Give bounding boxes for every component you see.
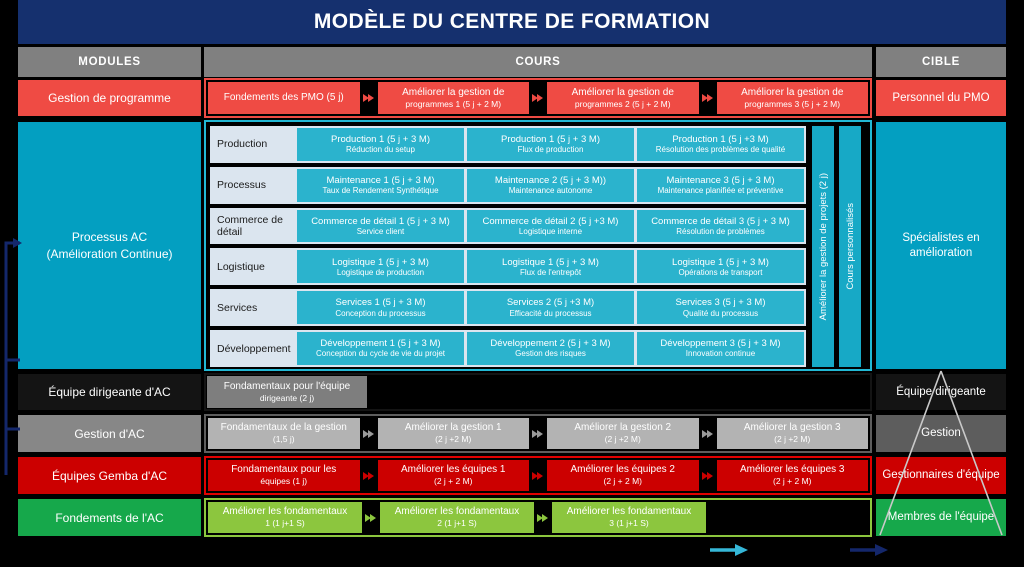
matrix-cell[interactable]: Commerce de détail 3 (5 j + 3 M) Résolut… <box>637 210 804 243</box>
arrow-right-icon <box>529 82 547 114</box>
matrix-row-label: Logistique <box>212 250 294 283</box>
matrix-cell[interactable]: Développement 3 (5 j + 3 M) Innovation c… <box>637 332 804 365</box>
arrow-right-icon <box>360 460 378 491</box>
matrix-cell[interactable]: Commerce de détail 1 (5 j + 3 M) Service… <box>297 210 464 243</box>
course-box[interactable]: Améliorer les fondamentaux 2 (1 j+1 S) <box>380 502 534 533</box>
course-box[interactable]: Fondamentaux de la gestion (1,5 j) <box>208 418 360 449</box>
course-box[interactable]: Améliorer la gestion de programmes 1 (5 … <box>378 82 530 114</box>
matrix-row-processus: Processus Maintenance 1 (5 j + 3 M) Taux… <box>210 167 806 204</box>
course-matrix-grid: Production Production 1 (5 j + 3 M) Rédu… <box>210 126 806 367</box>
training-center-model-diagram: MODÈLE DU CENTRE DE FORMATION MODULES CO… <box>0 0 1024 567</box>
course-box[interactable]: Améliorer les équipes 3 (2 j + 2 M) <box>717 460 869 491</box>
target-label-gestion: Gestion <box>876 415 1006 452</box>
matrix-row-label: Services <box>212 291 294 324</box>
course-box[interactable]: Améliorer les fondamentaux 3 (1 j+1 S) <box>552 502 706 533</box>
target-label-personnel-du-pmo: Personnel du PMO <box>876 80 1006 116</box>
matrix-row-logistique: Logistique Logistique 1 (5 j + 3 M) Logi… <box>210 248 806 285</box>
bottom-flow-arrows-icon <box>690 538 1024 562</box>
processus-ac-line2: (Amélioration Continue) <box>46 246 172 262</box>
vertical-course-gestion-de-projets[interactable]: Améliorer la gestion de projets (2 j) <box>812 126 834 367</box>
target-label-membres-equipe: Membres de l'équipe <box>876 499 1006 536</box>
matrix-row-label: Développement <box>212 332 294 365</box>
arrow-right-icon <box>534 502 552 533</box>
column-header-modules: MODULES <box>18 47 201 77</box>
course-box[interactable]: Améliorer la gestion 3 (2 j +2 M) <box>717 418 869 449</box>
matrix-cell[interactable]: Logistique 1 (5 j + 3 M) Flux de l'entre… <box>467 250 634 283</box>
module-label-equipe-dirigeante-ac: Équipe dirigeante d'AC <box>18 374 201 410</box>
matrix-cell[interactable]: Logistique 1 (5 j + 3 M) Logistique de p… <box>297 250 464 283</box>
matrix-row-production: Production Production 1 (5 j + 3 M) Rédu… <box>210 126 806 163</box>
module-label-equipes-gemba-ac: Équipes Gemba d'AC <box>18 457 201 494</box>
matrix-cell[interactable]: Production 1 (5 j + 3 M) Réduction du se… <box>297 128 464 161</box>
matrix-cell[interactable]: Commerce de détail 2 (5 j +3 M) Logistiq… <box>467 210 634 243</box>
module-label-gestion-de-programme: Gestion de programme <box>18 80 201 116</box>
matrix-cell[interactable]: Maintenance 3 (5 j + 3 M) Maintenance pl… <box>637 169 804 202</box>
course-track-fondements: Améliorer les fondamentaux 1 (1 j+1 S) A… <box>204 498 872 537</box>
matrix-cell[interactable]: Développement 2 (5 j + 3 M) Gestion des … <box>467 332 634 365</box>
course-box[interactable]: Améliorer la gestion de programmes 2 (5 … <box>547 82 699 114</box>
arrow-right-icon <box>362 502 380 533</box>
course-box[interactable]: Améliorer les équipes 1 (2 j + 2 M) <box>378 460 530 491</box>
arrow-right-icon <box>529 418 547 449</box>
module-label-fondements-ac: Fondements de l'AC <box>18 499 201 536</box>
course-box[interactable]: Améliorer la gestion de programmes 3 (5 … <box>717 82 869 114</box>
matrix-cell[interactable]: Services 1 (5 j + 3 M) Conception du pro… <box>297 291 464 324</box>
column-header-cours: COURS <box>204 47 872 77</box>
course-track-programme: Fondements des PMO (5 j) Améliorer la ge… <box>204 78 872 118</box>
matrix-cell[interactable]: Production 1 (5 j + 3 M) Flux de product… <box>467 128 634 161</box>
matrix-cell[interactable]: Production 1 (5 j +3 M) Résolution des p… <box>637 128 804 161</box>
course-box[interactable]: Améliorer la gestion 1 (2 j +2 M) <box>378 418 530 449</box>
course-track-gestion: Fondamentaux de la gestion (1,5 j) Améli… <box>204 414 872 453</box>
arrow-right-icon <box>699 460 717 491</box>
course-box[interactable]: Améliorer la gestion 2 (2 j +2 M) <box>547 418 699 449</box>
page-title: MODÈLE DU CENTRE DE FORMATION <box>18 0 1006 44</box>
arrow-right-icon <box>699 82 717 114</box>
target-label-gestionnaires-equipe: Gestionnaires d'équipe <box>876 457 1006 494</box>
module-label-processus-ac: Processus AC (Amélioration Continue) <box>18 122 201 369</box>
arrow-right-icon <box>529 460 547 491</box>
matrix-row-services: Services Services 1 (5 j + 3 M) Concepti… <box>210 289 806 326</box>
matrix-row-label: Production <box>212 128 294 161</box>
matrix-row-label: Processus <box>212 169 294 202</box>
course-track-dirigeante: Fondamentaux pour l'équipe dirigeante (2… <box>204 373 872 411</box>
processus-ac-line1: Processus AC <box>46 229 172 245</box>
column-header-cible: CIBLE <box>876 47 1006 77</box>
track-spacer <box>367 376 869 408</box>
target-label-specialistes-en-amelioration: Spécialistes en amélioration <box>876 122 1006 369</box>
course-box[interactable]: Améliorer les fondamentaux 1 (1 j+1 S) <box>208 502 362 533</box>
course-track-gemba: Fondamentaux pour les équipes (1 j) Amél… <box>204 456 872 495</box>
matrix-row-developpement: Développement Développement 1 (5 j + 3 M… <box>210 330 806 367</box>
course-box[interactable]: Fondamentaux pour l'équipe dirigeante (2… <box>207 376 367 408</box>
matrix-cell[interactable]: Logistique 1 (5 j + 3 M) Opérations de t… <box>637 250 804 283</box>
matrix-row-label: Commerce de détail <box>212 210 294 243</box>
matrix-cell[interactable]: Maintenance 2 (5 j + 3 M)) Maintenance a… <box>467 169 634 202</box>
matrix-cell[interactable]: Services 3 (5 j + 3 M) Qualité du proces… <box>637 291 804 324</box>
course-box[interactable]: Améliorer les équipes 2 (2 j + 2 M) <box>547 460 699 491</box>
module-label-gestion-ac: Gestion d'AC <box>18 415 201 452</box>
course-box[interactable]: Fondamentaux pour les équipes (1 j) <box>208 460 360 491</box>
target-label-equipe-dirigeante: Équipe dirigeante <box>876 374 1006 410</box>
arrow-right-icon <box>360 418 378 449</box>
vertical-course-cours-personnalises[interactable]: Cours personnalisés <box>839 126 861 367</box>
arrow-right-icon <box>699 418 717 449</box>
track-spacer <box>706 502 868 533</box>
course-matrix-processus-ac: Production Production 1 (5 j + 3 M) Rédu… <box>204 120 872 371</box>
matrix-cell[interactable]: Maintenance 1 (5 j + 3 M) Taux de Rendem… <box>297 169 464 202</box>
course-box[interactable]: Fondements des PMO (5 j) <box>208 82 360 114</box>
arrow-right-icon <box>360 82 378 114</box>
matrix-row-commerce-de-detail: Commerce de détail Commerce de détail 1 … <box>210 208 806 245</box>
matrix-cell[interactable]: Services 2 (5 j +3 M) Efficacité du proc… <box>467 291 634 324</box>
matrix-cell[interactable]: Développement 1 (5 j + 3 M) Conception d… <box>297 332 464 365</box>
